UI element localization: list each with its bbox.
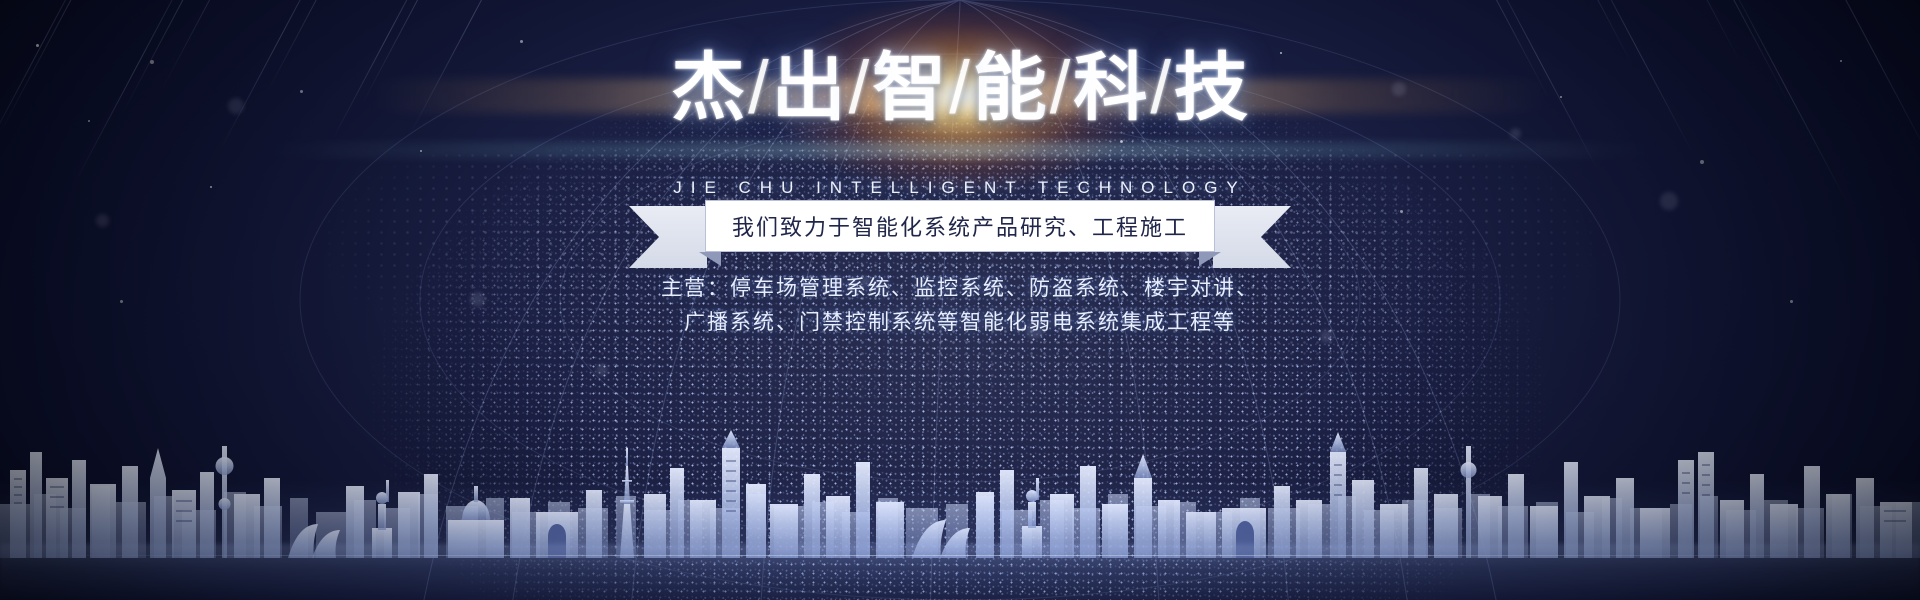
title-sep-4: / bbox=[1050, 46, 1072, 129]
title-sep-3: / bbox=[949, 46, 971, 129]
title-char-1: 杰 bbox=[671, 46, 746, 129]
title-char-3: 智 bbox=[872, 46, 947, 129]
description-block: 主营：停车场管理系统、监控系统、防盗系统、楼宇对讲、 广播系统、门禁控制系统等智… bbox=[550, 272, 1370, 340]
title-char-6: 技 bbox=[1174, 46, 1249, 129]
slogan-ribbon: 我们致力于智能化系统产品研究、工程施工 bbox=[635, 200, 1285, 252]
description-line-2: 广播系统、门禁控制系统等智能化弱电系统集成工程等 bbox=[550, 306, 1370, 340]
ribbon-wing-left bbox=[629, 206, 707, 268]
ribbon-body: 我们致力于智能化系统产品研究、工程施工 bbox=[705, 200, 1215, 252]
page-title: 杰/出/智/能/科/技 bbox=[671, 51, 1249, 125]
hero-banner: 杰/出/智/能/科/技 JIE CHU INTELLIGENT TECHNOLO… bbox=[0, 0, 1920, 600]
english-subtitle: JIE CHU INTELLIGENT TECHNOLOGY bbox=[673, 178, 1247, 198]
title-sep-5: / bbox=[1150, 46, 1172, 129]
title-char-5: 科 bbox=[1073, 46, 1148, 129]
title-char-4: 能 bbox=[973, 46, 1048, 129]
title-sep-1: / bbox=[748, 46, 770, 129]
title-char-2: 出 bbox=[772, 46, 847, 129]
water-reflection bbox=[0, 544, 1920, 600]
description-line-1: 主营：停车场管理系统、监控系统、防盗系统、楼宇对讲、 bbox=[550, 272, 1370, 306]
title-sep-2: / bbox=[849, 46, 871, 129]
ribbon-slogan-text: 我们致力于智能化系统产品研究、工程施工 bbox=[732, 210, 1188, 242]
ribbon-wing-right bbox=[1213, 206, 1291, 268]
